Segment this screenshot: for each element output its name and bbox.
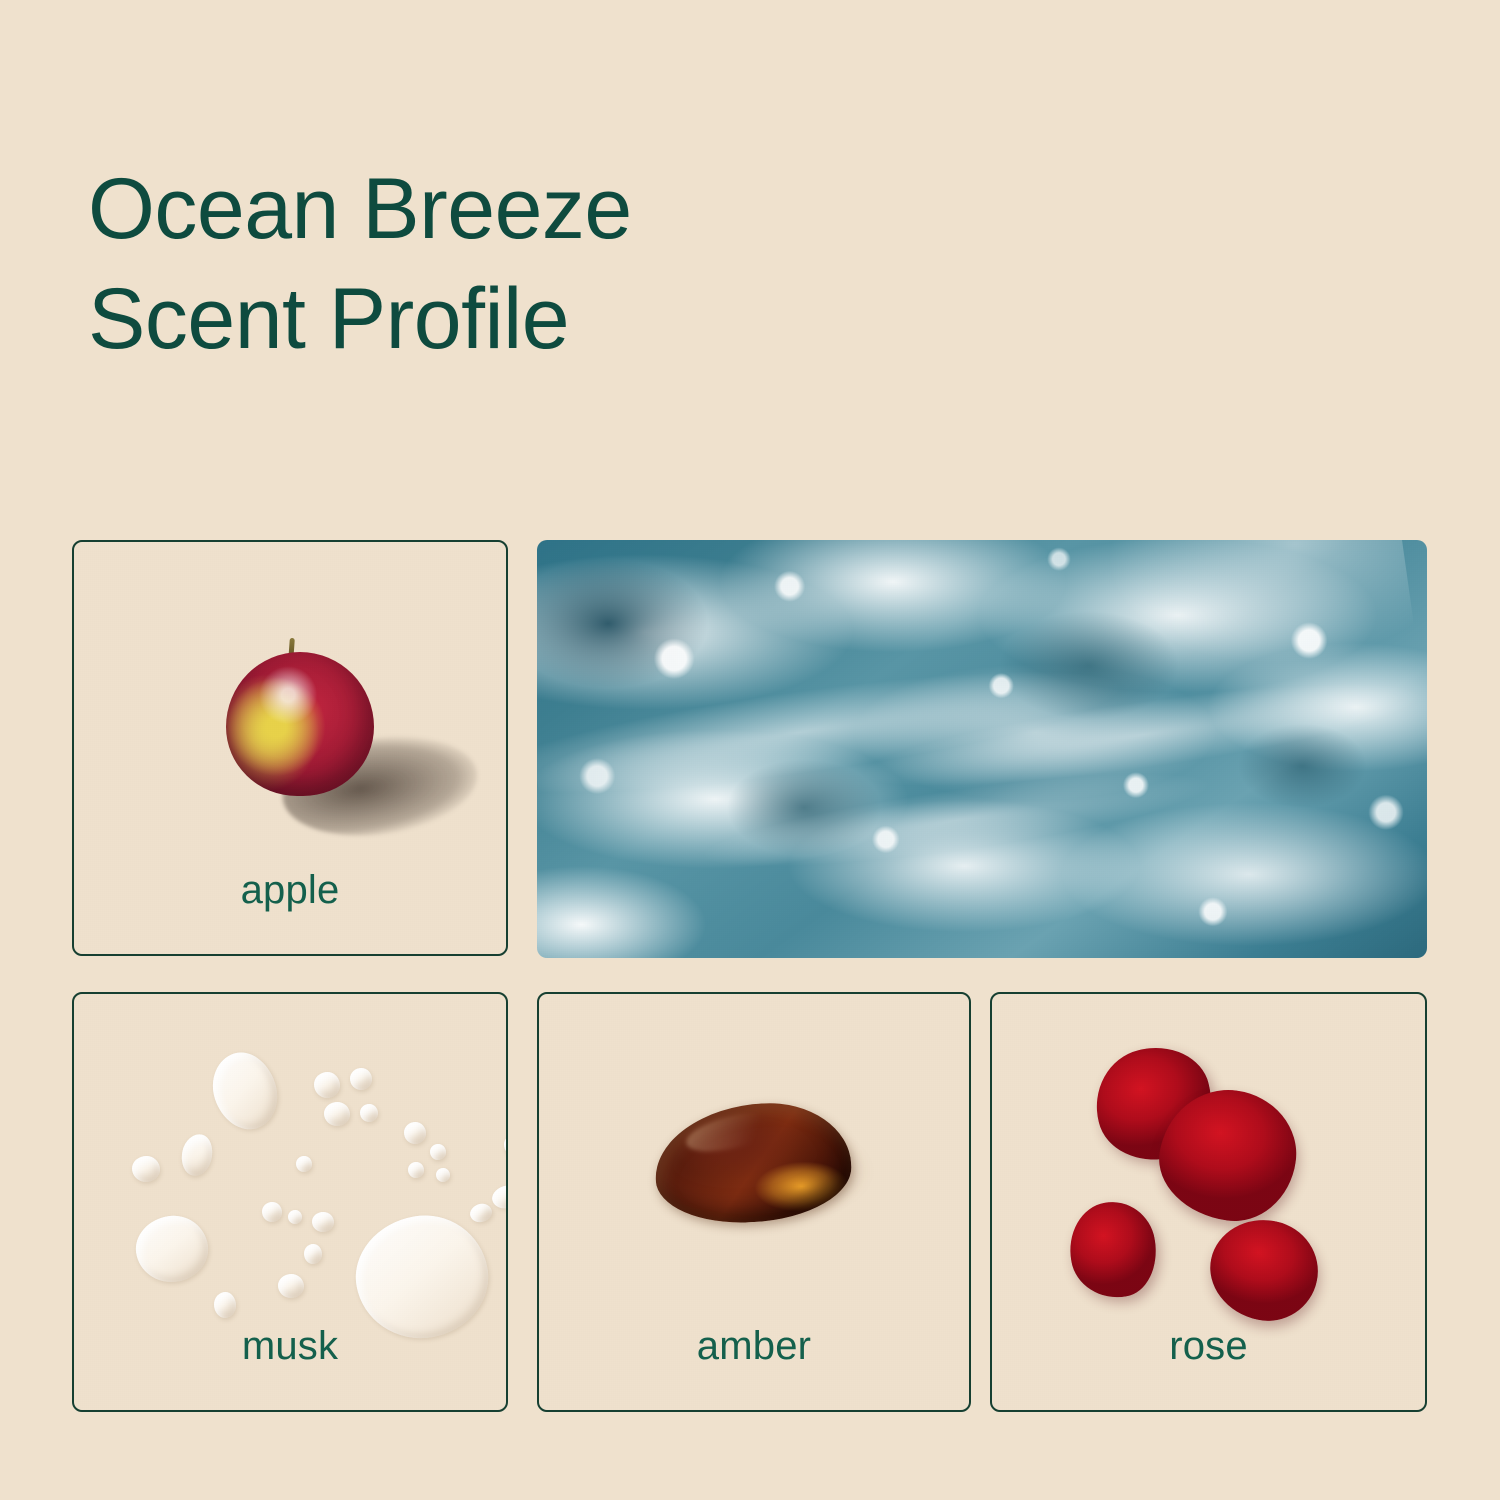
musk-droplet: [436, 1168, 450, 1182]
rose-petal: [1201, 1210, 1327, 1330]
musk-droplet: [360, 1104, 378, 1122]
musk-droplet: [296, 1156, 312, 1172]
musk-droplet: [304, 1244, 322, 1264]
ingredient-card-musk[interactable]: musk: [72, 992, 508, 1412]
musk-droplet: [350, 1068, 372, 1090]
musk-droplet: [214, 1292, 236, 1318]
musk-droplet: [489, 1182, 506, 1212]
ingredient-label-rose: rose: [992, 1324, 1425, 1369]
musk-droplet: [404, 1122, 426, 1144]
musk-droplet: [278, 1274, 304, 1298]
ocean-wave-photo[interactable]: [537, 540, 1427, 958]
musk-droplet: [262, 1202, 282, 1222]
musk-droplet: [203, 1044, 286, 1137]
musk-droplet: [408, 1162, 424, 1178]
ocean-foam-bubbles: [537, 540, 1427, 958]
musk-droplet: [504, 1134, 506, 1156]
musk-droplet: [430, 1144, 446, 1160]
scent-profile-page: Ocean Breeze Scent Profile apple musk am…: [0, 0, 1500, 1500]
musk-droplet: [132, 1211, 212, 1286]
musk-droplet: [312, 1212, 334, 1232]
ingredient-card-amber[interactable]: amber: [537, 992, 971, 1412]
ingredient-label-amber: amber: [539, 1324, 969, 1369]
ingredient-card-rose[interactable]: rose: [990, 992, 1427, 1412]
musk-droplet: [314, 1072, 340, 1098]
musk-droplet: [468, 1201, 494, 1225]
musk-droplet: [324, 1102, 350, 1126]
page-title: Ocean Breeze Scent Profile: [88, 154, 988, 374]
musk-droplet: [132, 1156, 160, 1182]
apple-body: [226, 652, 374, 796]
musk-droplet: [288, 1210, 302, 1224]
rose-petal: [1062, 1195, 1163, 1304]
ingredient-card-apple[interactable]: apple: [72, 540, 508, 956]
ingredient-label-apple: apple: [74, 868, 506, 913]
ingredient-label-musk: musk: [74, 1324, 506, 1369]
musk-droplet: [178, 1131, 216, 1178]
